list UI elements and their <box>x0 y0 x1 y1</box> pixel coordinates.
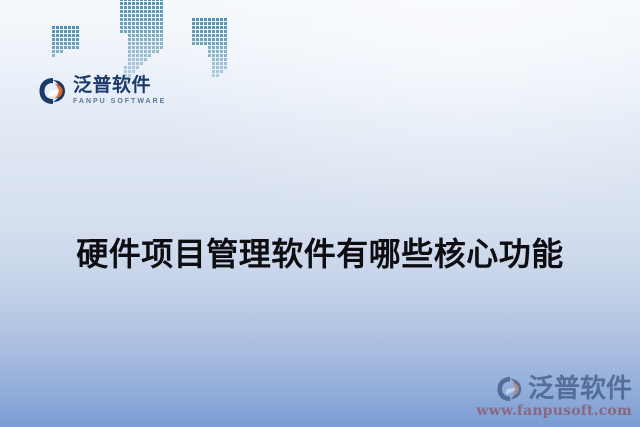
skyline-pixel <box>216 66 219 69</box>
skyline-pixel <box>148 54 151 57</box>
skyline-pixel <box>212 50 215 53</box>
skyline-pixel <box>136 54 139 57</box>
skyline-pixel <box>148 26 151 29</box>
skyline-pixel <box>152 30 155 33</box>
skyline-pixel <box>132 14 135 17</box>
skyline-pixel <box>212 62 215 65</box>
skyline-pixel <box>124 6 127 9</box>
skyline-pixel <box>212 54 215 57</box>
skyline-pixel <box>124 2 127 5</box>
skyline-pixel <box>120 2 123 5</box>
skyline-pixel <box>120 22 123 25</box>
skyline-pixel <box>68 38 71 41</box>
skyline-pixel <box>220 62 223 65</box>
skyline-pixel <box>192 34 195 37</box>
skyline-pixel <box>152 34 155 37</box>
skyline-pixel <box>224 54 227 57</box>
skyline-pixel <box>140 22 143 25</box>
skyline-pixel <box>212 38 215 41</box>
skyline-pixel <box>132 66 135 69</box>
skyline-pixel <box>136 26 139 29</box>
skyline-pixel <box>160 42 163 45</box>
skyline-pixel <box>216 70 219 73</box>
skyline-pixel <box>224 38 227 41</box>
skyline-pixel <box>160 30 163 33</box>
skyline-pixel <box>156 6 159 9</box>
skyline-pixel <box>72 38 75 41</box>
skyline-pixel <box>192 26 195 29</box>
skyline-pixel <box>152 50 155 53</box>
brand-logo: 泛普软件 FANPU SOFTWARE <box>38 76 166 105</box>
skyline-pixel <box>52 46 55 49</box>
skyline-pixel <box>128 30 131 33</box>
skyline-pixel <box>220 66 223 69</box>
skyline-pixel <box>140 62 143 65</box>
skyline-pixel <box>212 42 215 45</box>
skyline-pixel <box>144 22 147 25</box>
skyline-pixel <box>56 50 59 53</box>
skyline-pixel <box>148 38 151 41</box>
skyline-pixel <box>128 6 131 9</box>
skyline-pixel <box>128 66 131 69</box>
skyline-pixel <box>152 14 155 17</box>
skyline-pixel <box>144 10 147 13</box>
skyline-pixel <box>140 30 143 33</box>
skyline-pixel <box>148 0 151 1</box>
skyline-pixel <box>156 46 159 49</box>
skyline-pixel <box>60 30 63 33</box>
skyline-pixel <box>200 30 203 33</box>
skyline-pixel <box>144 34 147 37</box>
skyline-pixel <box>144 30 147 33</box>
skyline-pixel <box>128 38 131 41</box>
skyline-pixel <box>224 46 227 49</box>
skyline-pixel <box>204 26 207 29</box>
skyline-pixel <box>136 38 139 41</box>
skyline-pixel <box>56 38 59 41</box>
skyline-pixel <box>132 6 135 9</box>
skyline-pixel <box>148 22 151 25</box>
skyline-pixel <box>136 46 139 49</box>
skyline-pixel <box>216 74 219 77</box>
skyline-pixel <box>128 70 131 73</box>
skyline-pixel <box>156 50 159 53</box>
skyline-pixel <box>152 38 155 41</box>
skyline-pixel <box>208 54 211 57</box>
skyline-pixel <box>56 46 59 49</box>
skyline-pixel <box>192 42 195 45</box>
skyline-pixel <box>140 10 143 13</box>
skyline-pixel <box>216 34 219 37</box>
skyline-pixel <box>152 46 155 49</box>
skyline-pixel <box>136 18 139 21</box>
skyline-pixel <box>204 38 207 41</box>
skyline-pixel <box>144 26 147 29</box>
skyline-pixel <box>56 26 59 29</box>
skyline-pixel <box>144 50 147 53</box>
skyline-pixel <box>136 42 139 45</box>
skyline-pixel <box>76 34 79 37</box>
skyline-pixel <box>160 46 163 49</box>
skyline-pixel <box>152 22 155 25</box>
skyline-pixel <box>148 18 151 21</box>
skyline-pixel <box>68 42 71 45</box>
skyline-pixel <box>132 58 135 61</box>
skyline-pixel <box>224 58 227 61</box>
skyline-pixel <box>52 38 55 41</box>
skyline-pixel <box>216 46 219 49</box>
page-title: 硬件项目管理软件有哪些核心功能 <box>0 228 640 276</box>
skyline-pixel <box>136 2 139 5</box>
skyline-pixel <box>64 42 67 45</box>
skyline-pixel <box>220 34 223 37</box>
skyline-pixel <box>192 30 195 33</box>
skyline-pixel <box>156 26 159 29</box>
skyline-pixel <box>124 22 127 25</box>
skyline-pixel <box>132 50 135 53</box>
skyline-pixel <box>76 46 79 49</box>
skyline-pixel <box>204 18 207 21</box>
skyline-pixel <box>52 34 55 37</box>
skyline-pixel <box>120 14 123 17</box>
skyline-pixel <box>208 26 211 29</box>
skyline-pixel <box>144 46 147 49</box>
skyline-pixel <box>160 14 163 17</box>
skyline-pixel <box>224 66 227 69</box>
skyline-pixel <box>52 50 55 53</box>
skyline-pixel <box>136 10 139 13</box>
skyline-pixel <box>72 34 75 37</box>
skyline-pixel <box>148 10 151 13</box>
skyline-pixel <box>124 70 127 73</box>
skyline-pixel <box>196 18 199 21</box>
skyline-pixel <box>68 34 71 37</box>
skyline-pixel <box>76 30 79 33</box>
skyline-pixel <box>200 42 203 45</box>
skyline-pixel <box>60 38 63 41</box>
skyline-pixel <box>216 30 219 33</box>
skyline-pixel <box>192 22 195 25</box>
skyline-pixel <box>156 34 159 37</box>
skyline-pixel <box>208 50 211 53</box>
skyline-pixel <box>124 30 127 33</box>
skyline-pixel <box>140 58 143 61</box>
skyline-pixel <box>76 42 79 45</box>
skyline-pixel <box>224 50 227 53</box>
skyline-pixel <box>72 30 75 33</box>
skyline-pixel <box>220 26 223 29</box>
skyline-pixel <box>212 34 215 37</box>
skyline-pixel <box>208 34 211 37</box>
skyline-pixel <box>156 30 159 33</box>
skyline-pixel <box>160 18 163 21</box>
skyline-pixel <box>212 30 215 33</box>
skyline-pixel <box>148 2 151 5</box>
skyline-pixel <box>128 2 131 5</box>
skyline-pixel <box>132 42 135 45</box>
skyline-pixel <box>140 0 143 1</box>
skyline-pixel <box>212 66 215 69</box>
skyline-pixel <box>136 58 139 61</box>
skyline-pixel <box>128 54 131 57</box>
skyline-pixel <box>60 26 63 29</box>
skyline-pixel <box>120 18 123 21</box>
skyline-pixel <box>52 42 55 45</box>
skyline-pixel <box>144 14 147 17</box>
skyline-pixel <box>132 2 135 5</box>
skyline-pixel <box>64 34 67 37</box>
skyline-pixel <box>208 18 211 21</box>
skyline-pixel <box>212 22 215 25</box>
skyline-pixel <box>140 50 143 53</box>
skyline-pixel <box>160 6 163 9</box>
brand-name-cn: 泛普软件 <box>73 76 166 95</box>
skyline-pixel <box>76 38 79 41</box>
skyline-pixel <box>120 10 123 13</box>
skyline-pixel <box>200 26 203 29</box>
skyline-pixel <box>156 42 159 45</box>
skyline-pixel <box>208 22 211 25</box>
skyline-pixel <box>136 0 139 1</box>
skyline-pixel <box>216 18 219 21</box>
skyline-pixel <box>128 14 131 17</box>
skyline-pixel <box>152 42 155 45</box>
skyline-pixel <box>196 26 199 29</box>
skyline-pixel <box>136 50 139 53</box>
skyline-pixel <box>132 54 135 57</box>
skyline-pixel <box>52 26 55 29</box>
skyline-pixel <box>148 42 151 45</box>
skyline-pixel <box>152 26 155 29</box>
skyline-pixel <box>64 26 67 29</box>
skyline-pixel <box>200 38 203 41</box>
skyline-pixel <box>204 42 207 45</box>
skyline-pixel <box>224 22 227 25</box>
skyline-pixel <box>196 22 199 25</box>
skyline-pixel <box>68 26 71 29</box>
skyline-pixel <box>148 50 151 53</box>
skyline-pixel <box>216 38 219 41</box>
skyline-pixel <box>120 30 123 33</box>
skyline-pixel <box>156 0 159 1</box>
skyline-pixel <box>128 46 131 49</box>
skyline-pixel <box>216 42 219 45</box>
skyline-pixel <box>148 30 151 33</box>
skyline-pixel <box>132 0 135 1</box>
skyline-pixel <box>220 54 223 57</box>
skyline-pixel <box>224 62 227 65</box>
skyline-pixel <box>136 30 139 33</box>
skyline-pixel <box>128 10 131 13</box>
skyline-pixel <box>152 0 155 1</box>
skyline-pixel <box>56 42 59 45</box>
skyline-pixel <box>72 42 75 45</box>
skyline-pixel <box>200 18 203 21</box>
skyline-pixel <box>132 30 135 33</box>
skyline-pixel <box>52 54 55 57</box>
skyline-pixel <box>120 0 123 1</box>
skyline-pixel <box>212 26 215 29</box>
skyline-pixel <box>196 34 199 37</box>
skyline-pixel <box>144 58 147 61</box>
skyline-pixel <box>128 0 131 1</box>
skyline-pixel <box>152 2 155 5</box>
skyline-pixel <box>220 50 223 53</box>
skyline-pixel <box>132 10 135 13</box>
skyline-pixel <box>224 42 227 45</box>
skyline-pixel <box>220 18 223 21</box>
pixel-building-skyline <box>52 14 152 78</box>
skyline-pixel <box>224 30 227 33</box>
skyline-pixel <box>204 34 207 37</box>
skyline-pixel <box>56 34 59 37</box>
skyline-pixel <box>208 46 211 49</box>
skyline-pixel <box>212 46 215 49</box>
skyline-pixel <box>156 18 159 21</box>
skyline-pixel <box>140 26 143 29</box>
skyline-pixel <box>128 18 131 21</box>
skyline-pixel <box>156 10 159 13</box>
skyline-pixel <box>136 62 139 65</box>
watermark: 泛普软件 www.fanpusoft.com <box>470 376 632 419</box>
fanpu-logo-mark <box>38 77 68 105</box>
skyline-pixel <box>216 50 219 53</box>
skyline-pixel <box>132 70 135 73</box>
skyline-pixel <box>76 26 79 29</box>
building-right-tower <box>192 18 228 78</box>
skyline-pixel <box>124 14 127 17</box>
skyline-pixel <box>140 18 143 21</box>
skyline-pixel <box>128 22 131 25</box>
skyline-pixel <box>160 26 163 29</box>
skyline-pixel <box>64 30 67 33</box>
skyline-pixel <box>60 34 63 37</box>
skyline-pixel <box>220 38 223 41</box>
skyline-pixel <box>156 2 159 5</box>
skyline-pixel <box>136 6 139 9</box>
skyline-pixel <box>220 58 223 61</box>
skyline-pixel <box>136 22 139 25</box>
skyline-pixel <box>160 38 163 41</box>
skyline-pixel <box>216 54 219 57</box>
skyline-pixel <box>216 26 219 29</box>
skyline-pixel <box>148 6 151 9</box>
skyline-pixel <box>144 54 147 57</box>
skyline-pixel <box>128 42 131 45</box>
skyline-pixel <box>140 46 143 49</box>
skyline-pixel <box>64 38 67 41</box>
skyline-pixel <box>144 38 147 41</box>
skyline-pixel <box>220 46 223 49</box>
skyline-pixel <box>196 38 199 41</box>
skyline-pixel <box>148 34 151 37</box>
brand-text: 泛普软件 FANPU SOFTWARE <box>73 76 166 105</box>
brand-name-en: FANPU SOFTWARE <box>73 98 166 105</box>
skyline-pixel <box>224 18 227 21</box>
skyline-pixel <box>132 26 135 29</box>
skyline-pixel <box>136 34 139 37</box>
skyline-pixel <box>140 14 143 17</box>
skyline-pixel <box>144 42 147 45</box>
skyline-pixel <box>140 54 143 57</box>
skyline-pixel <box>144 18 147 21</box>
skyline-pixel <box>148 14 151 17</box>
skyline-pixel <box>144 6 147 9</box>
skyline-pixel <box>212 58 215 61</box>
skyline-pixel <box>56 30 59 33</box>
skyline-pixel <box>60 46 63 49</box>
skyline-pixel <box>220 70 223 73</box>
skyline-pixel <box>64 46 67 49</box>
watermark-url: www.fanpusoft.com <box>476 403 632 419</box>
skyline-pixel <box>220 22 223 25</box>
skyline-pixel <box>140 38 143 41</box>
skyline-pixel <box>212 70 215 73</box>
skyline-pixel <box>140 6 143 9</box>
skyline-pixel <box>72 46 75 49</box>
watermark-logo-row: 泛普软件 <box>496 376 632 402</box>
skyline-pixel <box>124 10 127 13</box>
skyline-pixel <box>132 38 135 41</box>
skyline-pixel <box>224 34 227 37</box>
skyline-pixel <box>148 46 151 49</box>
slide-canvas: 泛普软件 FANPU SOFTWARE 硬件项目管理软件有哪些核心功能 泛普软件… <box>0 0 640 427</box>
skyline-pixel <box>152 18 155 21</box>
skyline-pixel <box>208 30 211 33</box>
skyline-pixel <box>220 42 223 45</box>
skyline-pixel <box>60 50 63 53</box>
skyline-pixel <box>200 22 203 25</box>
skyline-pixel <box>160 0 163 1</box>
skyline-pixel <box>124 66 127 69</box>
skyline-pixel <box>52 30 55 33</box>
skyline-pixel <box>140 2 143 5</box>
skyline-pixel <box>128 58 131 61</box>
skyline-pixel <box>192 18 195 21</box>
skyline-pixel <box>216 58 219 61</box>
skyline-pixel <box>60 42 63 45</box>
skyline-pixel <box>128 34 131 37</box>
building-center-tower <box>120 0 164 78</box>
fanpu-logo-mark-watermark <box>496 376 524 402</box>
skyline-pixel <box>124 0 127 1</box>
skyline-pixel <box>120 6 123 9</box>
skyline-pixel <box>156 22 159 25</box>
building-left-tower <box>52 26 80 78</box>
skyline-pixel <box>208 42 211 45</box>
skyline-pixel <box>68 46 71 49</box>
skyline-pixel <box>216 22 219 25</box>
skyline-pixel <box>136 14 139 17</box>
skyline-pixel <box>72 26 75 29</box>
skyline-pixel <box>124 26 127 29</box>
watermark-name-cn: 泛普软件 <box>528 376 632 402</box>
skyline-pixel <box>216 62 219 65</box>
skyline-pixel <box>140 42 143 45</box>
skyline-pixel <box>160 34 163 37</box>
skyline-pixel <box>152 6 155 9</box>
skyline-pixel <box>160 22 163 25</box>
skyline-pixel <box>132 34 135 37</box>
skyline-pixel <box>160 10 163 13</box>
skyline-pixel <box>204 30 207 33</box>
skyline-pixel <box>220 30 223 33</box>
skyline-pixel <box>212 18 215 21</box>
skyline-pixel <box>160 2 163 5</box>
skyline-pixel <box>128 50 131 53</box>
skyline-pixel <box>128 62 131 65</box>
skyline-pixel <box>120 26 123 29</box>
